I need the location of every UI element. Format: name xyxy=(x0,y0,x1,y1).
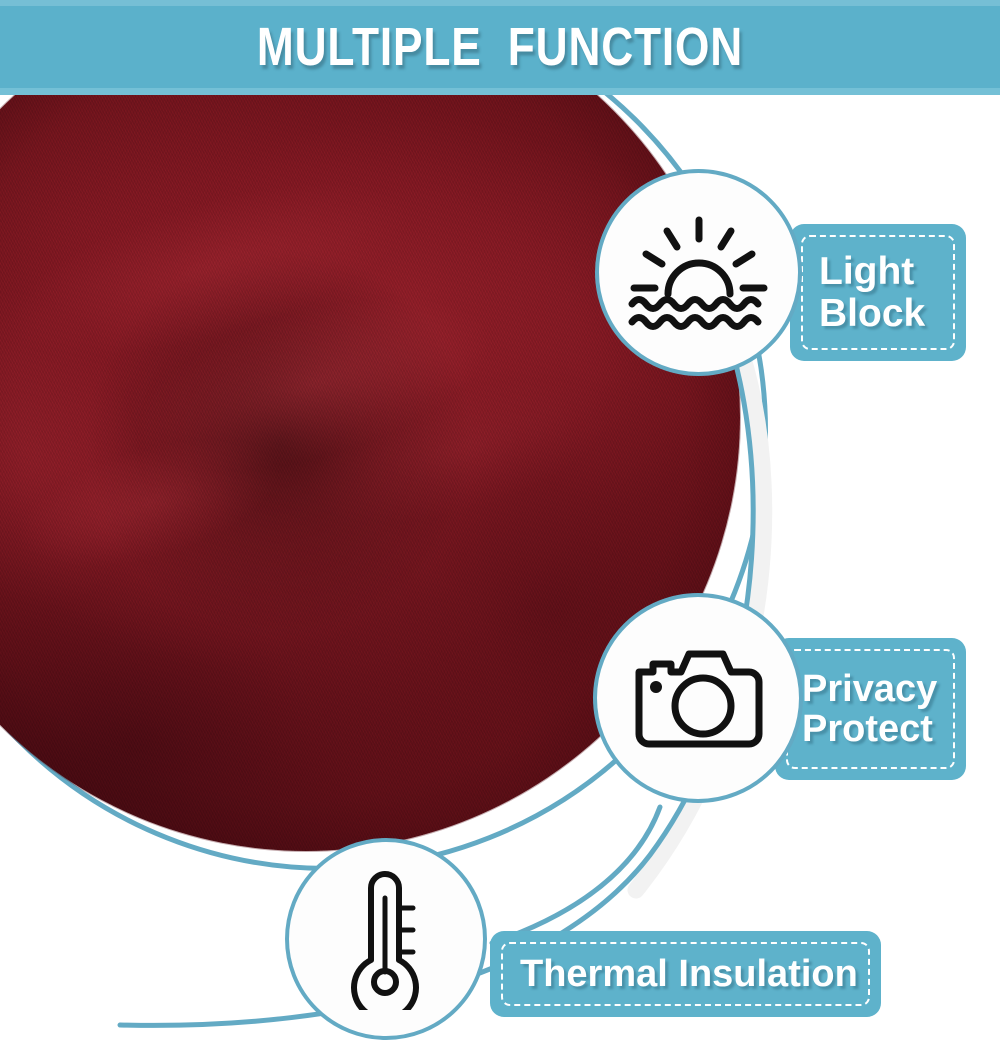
thermometer-icon xyxy=(331,868,441,1010)
badge-thermal-insulation[interactable]: Thermal Insulation xyxy=(490,931,881,1017)
camera-flash-dot xyxy=(650,681,662,693)
badge-label-light-block: Light Block xyxy=(819,251,925,334)
badge-label-line-2: Protect xyxy=(802,709,937,749)
badge-label-thermal-insulation: Thermal Insulation xyxy=(520,954,858,994)
badge-label-privacy-protect: Privacy Protect xyxy=(802,669,937,750)
sunrise-icon xyxy=(624,198,774,348)
icon-bubble-thermal-insulation[interactable] xyxy=(285,838,487,1040)
page-title: MULTIPLE FUNCTION xyxy=(90,0,910,95)
badge-label-line-1: Privacy xyxy=(802,669,937,709)
badge-privacy-protect[interactable]: Privacy Protect xyxy=(775,638,966,780)
badge-label-line-2: Block xyxy=(819,293,925,334)
icon-bubble-privacy-protect[interactable] xyxy=(593,593,803,803)
badge-label-line-1: Light xyxy=(819,251,925,292)
icon-bubble-light-block[interactable] xyxy=(595,169,802,376)
feature-stage: Light Block xyxy=(0,95,1000,1060)
badge-light-block[interactable]: Light Block xyxy=(790,224,966,361)
infographic-page: MULTIPLE FUNCTION Light Block xyxy=(0,0,1000,1060)
camera-icon xyxy=(627,638,769,758)
